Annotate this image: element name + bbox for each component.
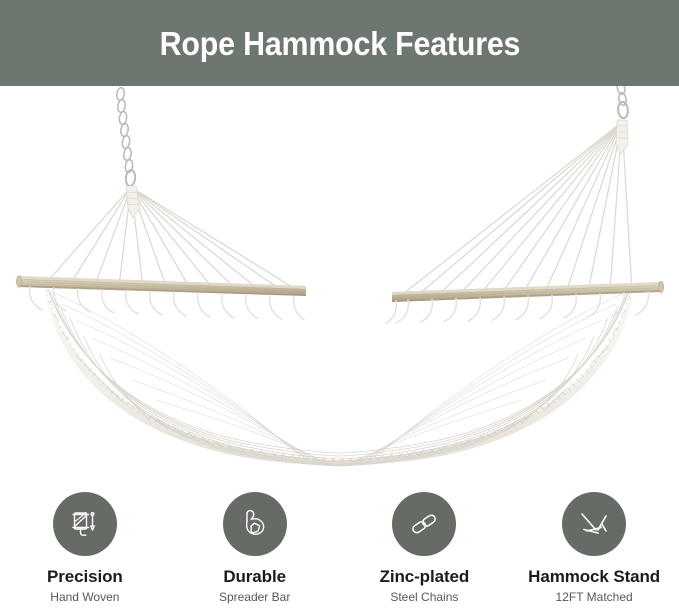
feature-icon-badge bbox=[223, 492, 287, 556]
feature-item-durable: Durable Spreader Bar bbox=[172, 492, 337, 604]
hammock-stand-icon bbox=[576, 506, 612, 542]
feature-subtitle: Hand Woven bbox=[50, 590, 119, 604]
feature-subtitle: Steel Chains bbox=[390, 590, 458, 604]
chain-link-icon bbox=[407, 507, 441, 541]
flexed-bicep-icon bbox=[238, 507, 272, 541]
right-chain bbox=[616, 86, 629, 119]
left-chain bbox=[116, 87, 136, 186]
header-banner: Rope Hammock Features bbox=[0, 0, 679, 86]
page-title: Rope Hammock Features bbox=[159, 27, 520, 60]
feature-item-hammock-stand: Hammock Stand 12FT Matched bbox=[512, 492, 677, 604]
feature-item-precision: Precision Hand Woven bbox=[2, 492, 167, 604]
feature-title: Hammock Stand bbox=[528, 567, 660, 587]
feature-title: Zinc-plated bbox=[380, 567, 470, 587]
feature-icon-badge bbox=[392, 492, 456, 556]
feature-strip: Precision Hand Woven Durable Spreader Ba… bbox=[0, 492, 679, 615]
hammock-illustration bbox=[0, 86, 679, 486]
feature-icon-badge bbox=[562, 492, 626, 556]
feature-icon-badge bbox=[53, 492, 117, 556]
feature-title: Durable bbox=[223, 567, 286, 587]
right-rope-knot bbox=[616, 120, 628, 154]
thread-spool-needle-icon bbox=[68, 507, 102, 541]
feature-subtitle: 12FT Matched bbox=[556, 590, 633, 604]
right-suspension-ropes bbox=[394, 122, 632, 301]
feature-subtitle: Spreader Bar bbox=[219, 590, 290, 604]
product-hero-image bbox=[0, 86, 679, 486]
feature-item-zinc-plated: Zinc-plated Steel Chains bbox=[342, 492, 507, 604]
feature-title: Precision bbox=[47, 567, 123, 587]
left-spreader-bar bbox=[16, 276, 306, 296]
